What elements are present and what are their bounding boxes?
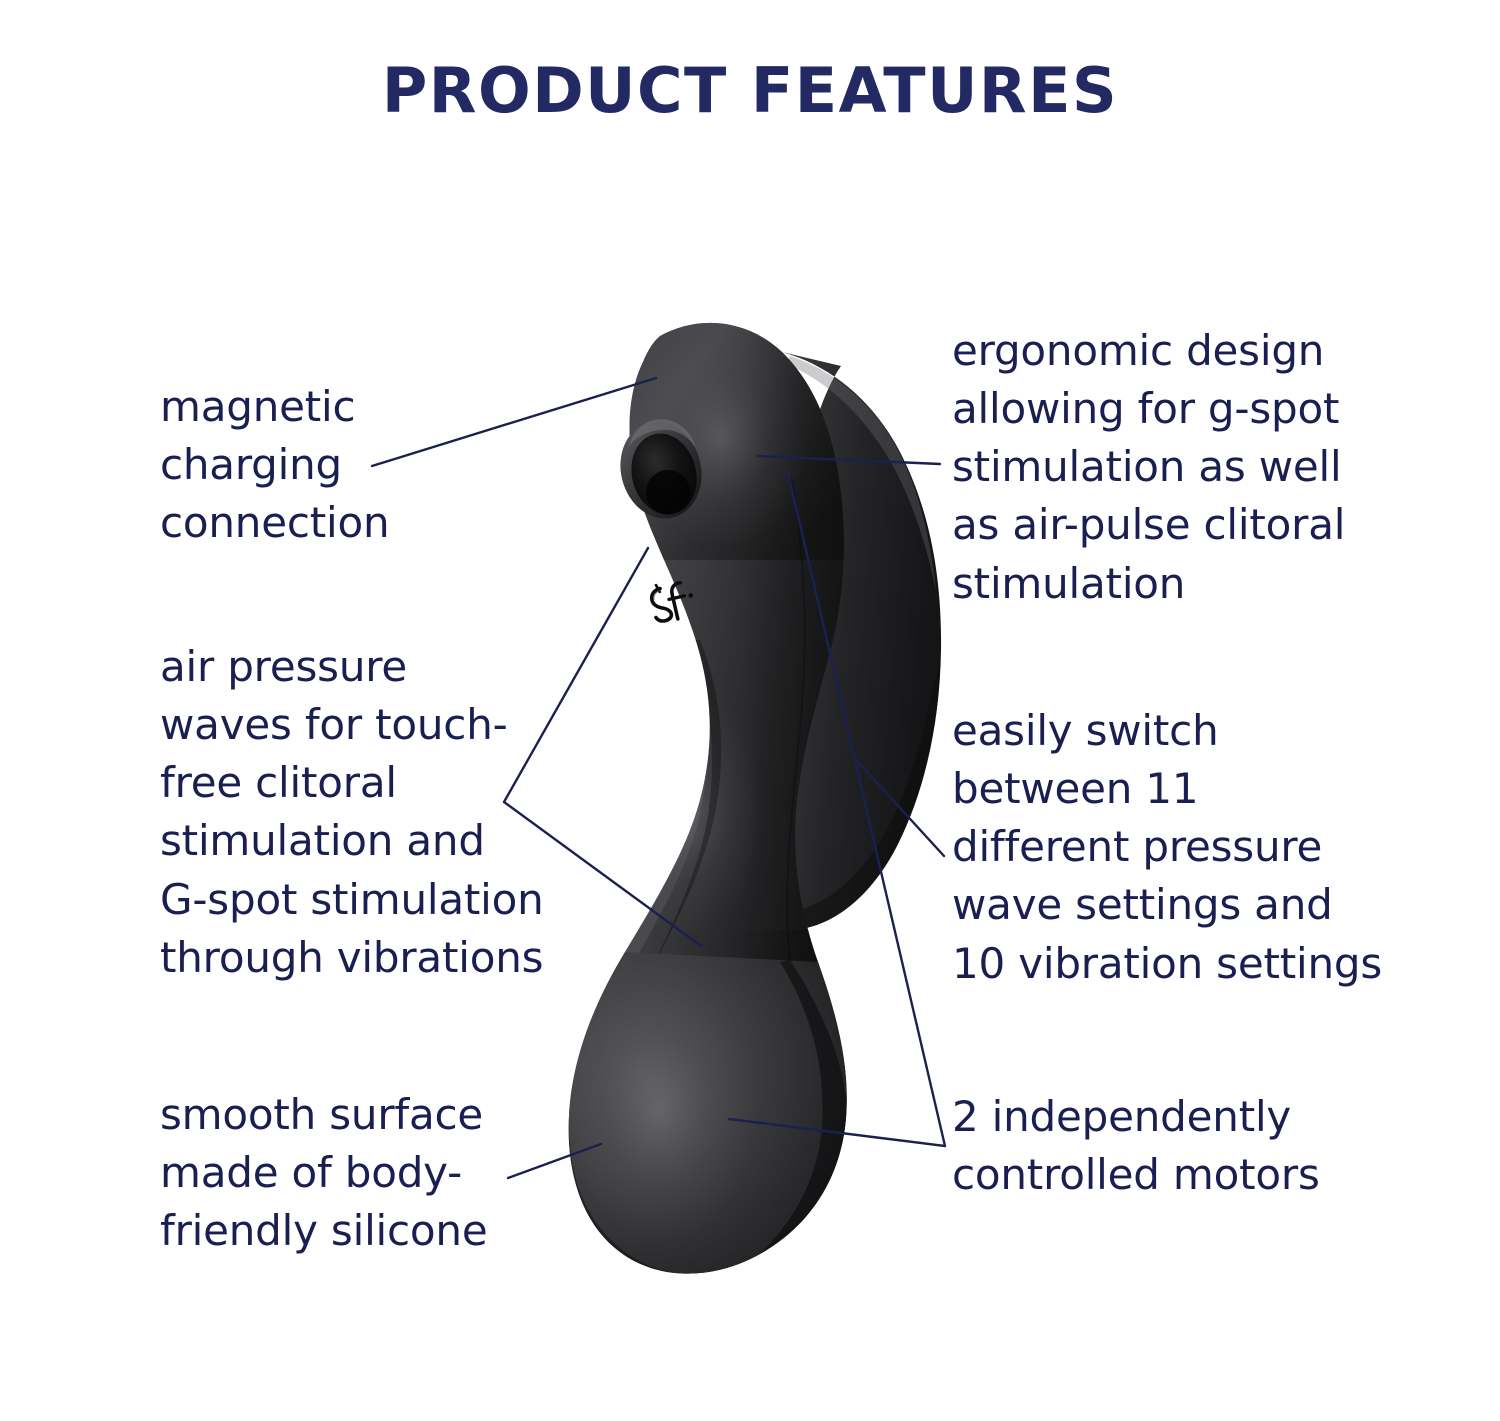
leader-two-motors bbox=[729, 473, 945, 1146]
leader-ergonomic-design bbox=[758, 456, 940, 464]
leader-easily-switch bbox=[858, 762, 944, 856]
callout-ergonomic-design: ergonomic design allowing for g-spot sti… bbox=[952, 322, 1422, 613]
callout-two-motors: 2 independently controlled motors bbox=[952, 1088, 1422, 1204]
infographic-page: PRODUCT FEATURES magnetic charging conne… bbox=[0, 0, 1500, 1421]
callout-magnetic-charging: magnetic charging connection bbox=[160, 378, 580, 552]
callout-easily-switch: easily switch between 11 different press… bbox=[952, 702, 1432, 993]
page-title: PRODUCT FEATURES bbox=[0, 58, 1500, 123]
callout-air-pressure: air pressure waves for touch- free clito… bbox=[160, 638, 590, 987]
callout-smooth-surface: smooth surface made of body- friendly si… bbox=[160, 1086, 590, 1260]
